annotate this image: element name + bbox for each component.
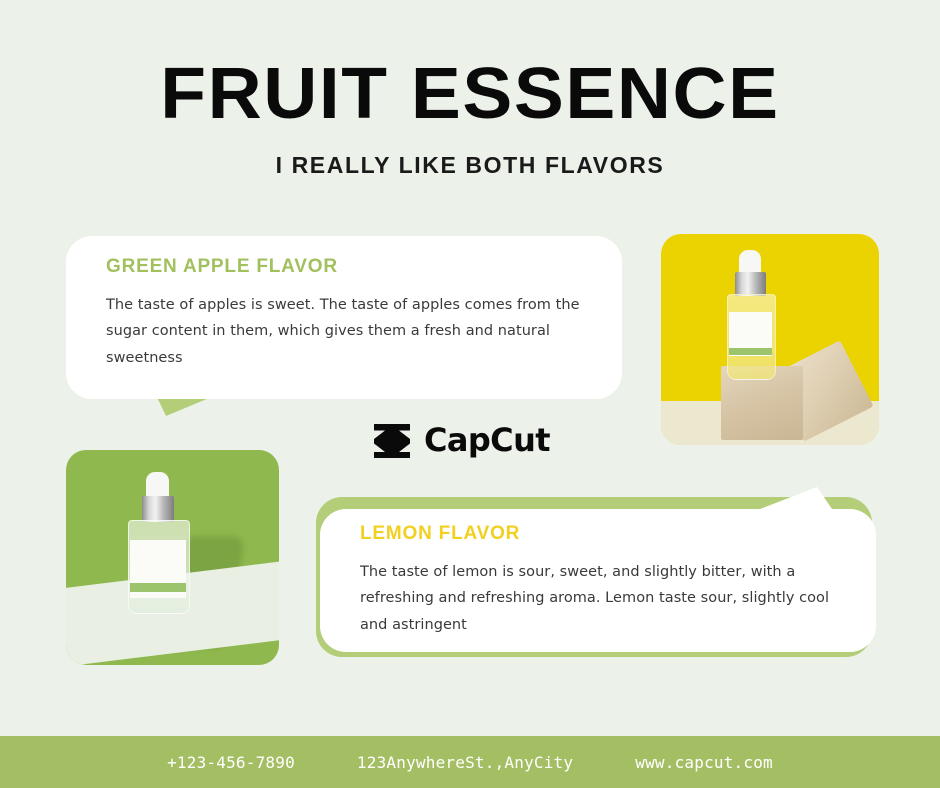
green-apple-flavor-card[interactable]: GREEN APPLE FLAVOR The taste of apples i… (66, 236, 622, 416)
page-title: FRUIT ESSENCE (0, 0, 940, 130)
header: FRUIT ESSENCE I REALLY LIKE BOTH FLAVORS (0, 0, 940, 179)
footer-bar: +123-456-7890 123AnywhereSt.,AnyCity www… (0, 736, 940, 788)
capcut-wordmark: CapCut (424, 421, 550, 459)
photo-yellow-scene (661, 234, 879, 445)
photo-yellow-bottle (661, 234, 879, 445)
dropper-metal-collar (735, 272, 766, 296)
footer-phone[interactable]: +123-456-7890 (167, 753, 295, 772)
page-subtitle: I REALLY LIKE BOTH FLAVORS (0, 130, 940, 179)
photo-green-scene (66, 450, 279, 665)
lemon-card-content: LEMON FLAVOR The taste of lemon is sour,… (360, 523, 855, 638)
footer-address[interactable]: 123AnywhereSt.,AnyCity (357, 753, 573, 772)
footer-website[interactable]: www.capcut.com (635, 753, 773, 772)
poster-canvas: FRUIT ESSENCE I REALLY LIKE BOTH FLAVORS… (0, 0, 940, 788)
lemon-card-heading: LEMON FLAVOR (360, 523, 855, 545)
capcut-logo-icon (372, 421, 412, 459)
apple-card-body: The taste of apples is sweet. The taste … (106, 292, 596, 371)
bottle-label-stripe (130, 583, 186, 592)
capcut-logo: CapCut (372, 421, 550, 459)
apple-card-heading: GREEN APPLE FLAVOR (106, 256, 596, 278)
apple-card-content: GREEN APPLE FLAVOR The taste of apples i… (106, 256, 596, 371)
dropper-metal-collar (142, 496, 174, 522)
photo-green-bottle (66, 450, 279, 665)
lemon-flavor-card[interactable]: LEMON FLAVOR The taste of lemon is sour,… (320, 487, 876, 662)
bottle-label-stripe (729, 348, 772, 355)
lemon-card-body: The taste of lemon is sour, sweet, and s… (360, 559, 855, 638)
